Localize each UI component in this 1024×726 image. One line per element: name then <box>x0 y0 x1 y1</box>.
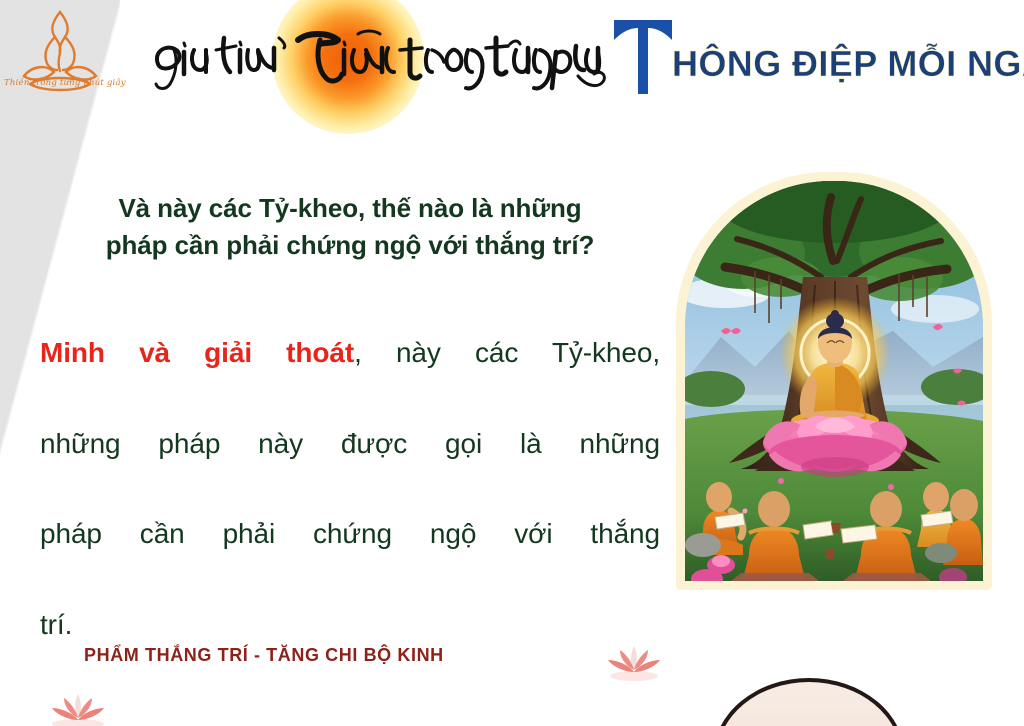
answer-line: pháp cần phải chứng ngộ với thắng <box>40 511 660 602</box>
logo-caption: Thiền trong từng phút giây <box>4 78 116 88</box>
slide-canvas: Thiền trong từng phút giây <box>0 0 1024 726</box>
header: Thiền trong từng phút giây <box>0 0 1024 130</box>
source-reference: PHẨM THẮNG TRÍ - TĂNG CHI BỘ KINH <box>84 645 444 666</box>
page-title: HÔNG ĐIỆP MỖI NGÀY <box>612 16 1024 96</box>
lotus-decoration-icon <box>48 688 108 726</box>
answer-line: trí. <box>40 602 660 647</box>
question-line: pháp cần phải chứng ngộ với thắng trí? <box>106 230 595 260</box>
title-initial-t-icon <box>612 16 674 96</box>
calligraphy-title <box>148 26 608 94</box>
question-text: Và này các Tỷ-kheo, thế nào là những phá… <box>40 190 660 264</box>
question-line: Và này các Tỷ-kheo, thế nào là những <box>118 193 581 223</box>
illustration-frame <box>676 172 992 590</box>
page-title-text: HÔNG ĐIỆP MỖI NGÀY <box>672 46 1024 82</box>
answer-highlight: Minh và giải thoát <box>40 337 354 368</box>
answer-line: những pháp này được gọi là những <box>40 421 660 512</box>
lotus-decoration-icon <box>604 640 664 682</box>
illustration-buddha-under-bodhi-tree <box>685 181 983 581</box>
answer-line: , này các Tỷ-kheo, <box>354 337 660 368</box>
answer-text: Minh và giải thoát, này các Tỷ-kheo, nhữ… <box>40 330 660 648</box>
